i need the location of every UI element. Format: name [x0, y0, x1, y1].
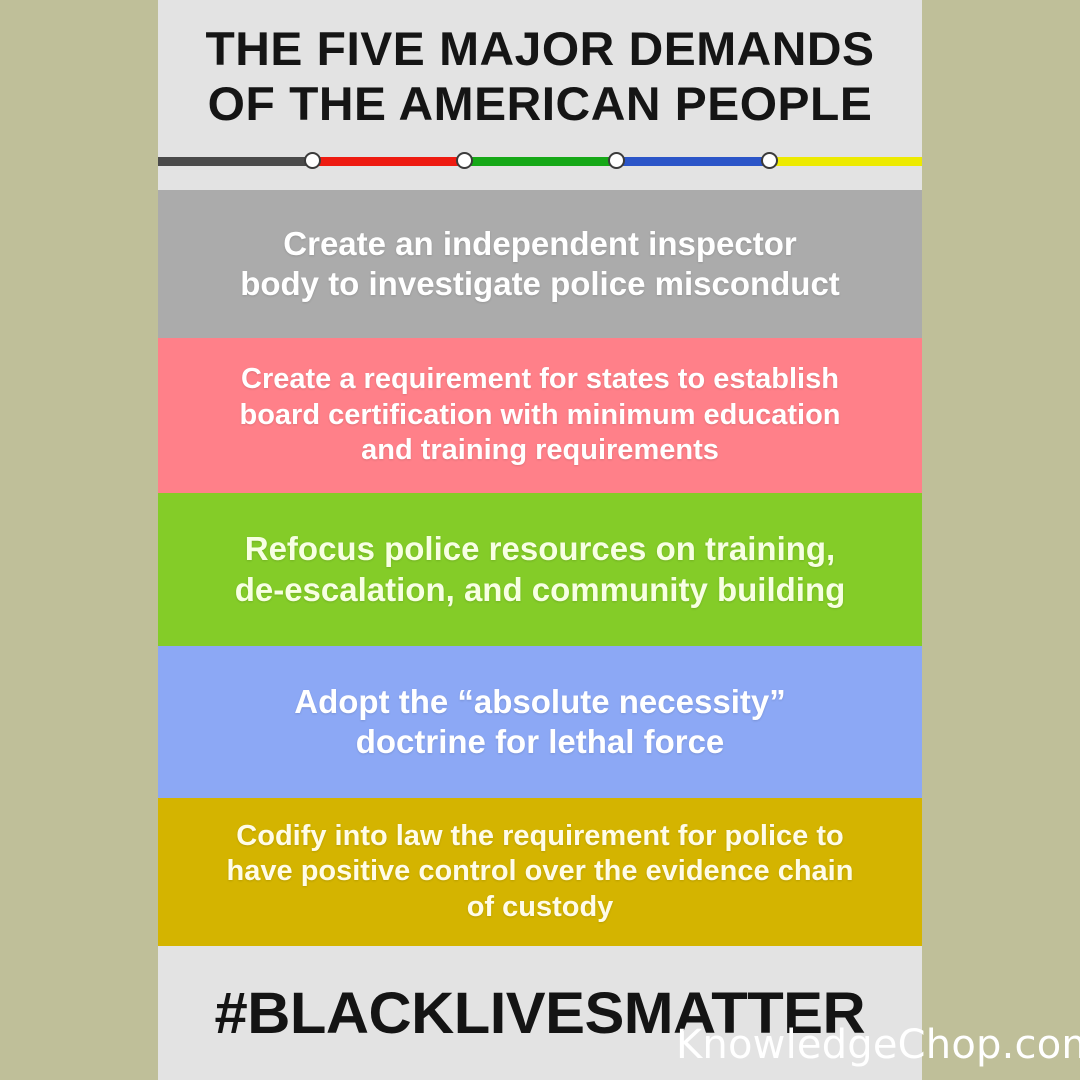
header-section: THE FIVE MAJOR DEMANDS OF THE AMERICAN P…	[158, 0, 922, 168]
demand-band-4: Adopt the “absolute necessity”doctrine f…	[158, 646, 922, 798]
page-title: THE FIVE MAJOR DEMANDS OF THE AMERICAN P…	[158, 22, 922, 131]
demand-band-5: Codify into law the requirement for poli…	[158, 798, 922, 946]
demand-4-line-1: Adopt the “absolute necessity”	[176, 682, 904, 722]
infographic-card: THE FIVE MAJOR DEMANDS OF THE AMERICAN P…	[158, 0, 922, 1080]
progress-segment-4	[616, 157, 769, 166]
demand-1-line-2: body to investigate police misconduct	[176, 264, 904, 304]
demand-4-line-2: doctrine for lethal force	[176, 722, 904, 762]
progress-line-track	[158, 157, 922, 166]
demand-2-line-2: board certification with minimum educati…	[176, 398, 904, 433]
demand-text-5: Codify into law the requirement for poli…	[176, 819, 904, 925]
demands-list: Create an independent inspectorbody to i…	[158, 190, 922, 946]
demand-2-line-3: and training requirements	[176, 433, 904, 468]
demand-band-1: Create an independent inspectorbody to i…	[158, 190, 922, 338]
progress-node-4	[761, 152, 778, 169]
progress-node-2	[456, 152, 473, 169]
demand-text-3: Refocus police resources on training,de-…	[176, 529, 904, 610]
progress-segment-3	[464, 157, 616, 166]
demand-text-1: Create an independent inspectorbody to i…	[176, 224, 904, 305]
demand-5-line-2: have positive control over the evidence …	[176, 854, 904, 889]
five-step-progress-line	[158, 151, 922, 173]
demand-2-line-1: Create a requirement for states to estab…	[176, 362, 904, 397]
demand-text-4: Adopt the “absolute necessity”doctrine f…	[176, 682, 904, 763]
page-title-line-1: THE FIVE MAJOR DEMANDS	[158, 22, 922, 77]
demand-5-line-3: of custody	[176, 890, 904, 925]
watermark: KnowledgeChop.com	[676, 1025, 1080, 1065]
demand-band-2: Create a requirement for states to estab…	[158, 338, 922, 493]
demand-3-line-1: Refocus police resources on training,	[176, 529, 904, 569]
page-title-line-2: OF THE AMERICAN PEOPLE	[158, 77, 922, 132]
progress-node-3	[608, 152, 625, 169]
demand-1-line-1: Create an independent inspector	[176, 224, 904, 264]
progress-node-1	[304, 152, 321, 169]
progress-segment-1	[158, 157, 312, 166]
demand-band-3: Refocus police resources on training,de-…	[158, 493, 922, 646]
demand-5-line-1: Codify into law the requirement for poli…	[176, 819, 904, 854]
progress-segment-2	[312, 157, 464, 166]
demand-3-line-2: de-escalation, and community building	[176, 570, 904, 610]
demand-text-2: Create a requirement for states to estab…	[176, 362, 904, 468]
progress-segment-5	[769, 157, 922, 166]
